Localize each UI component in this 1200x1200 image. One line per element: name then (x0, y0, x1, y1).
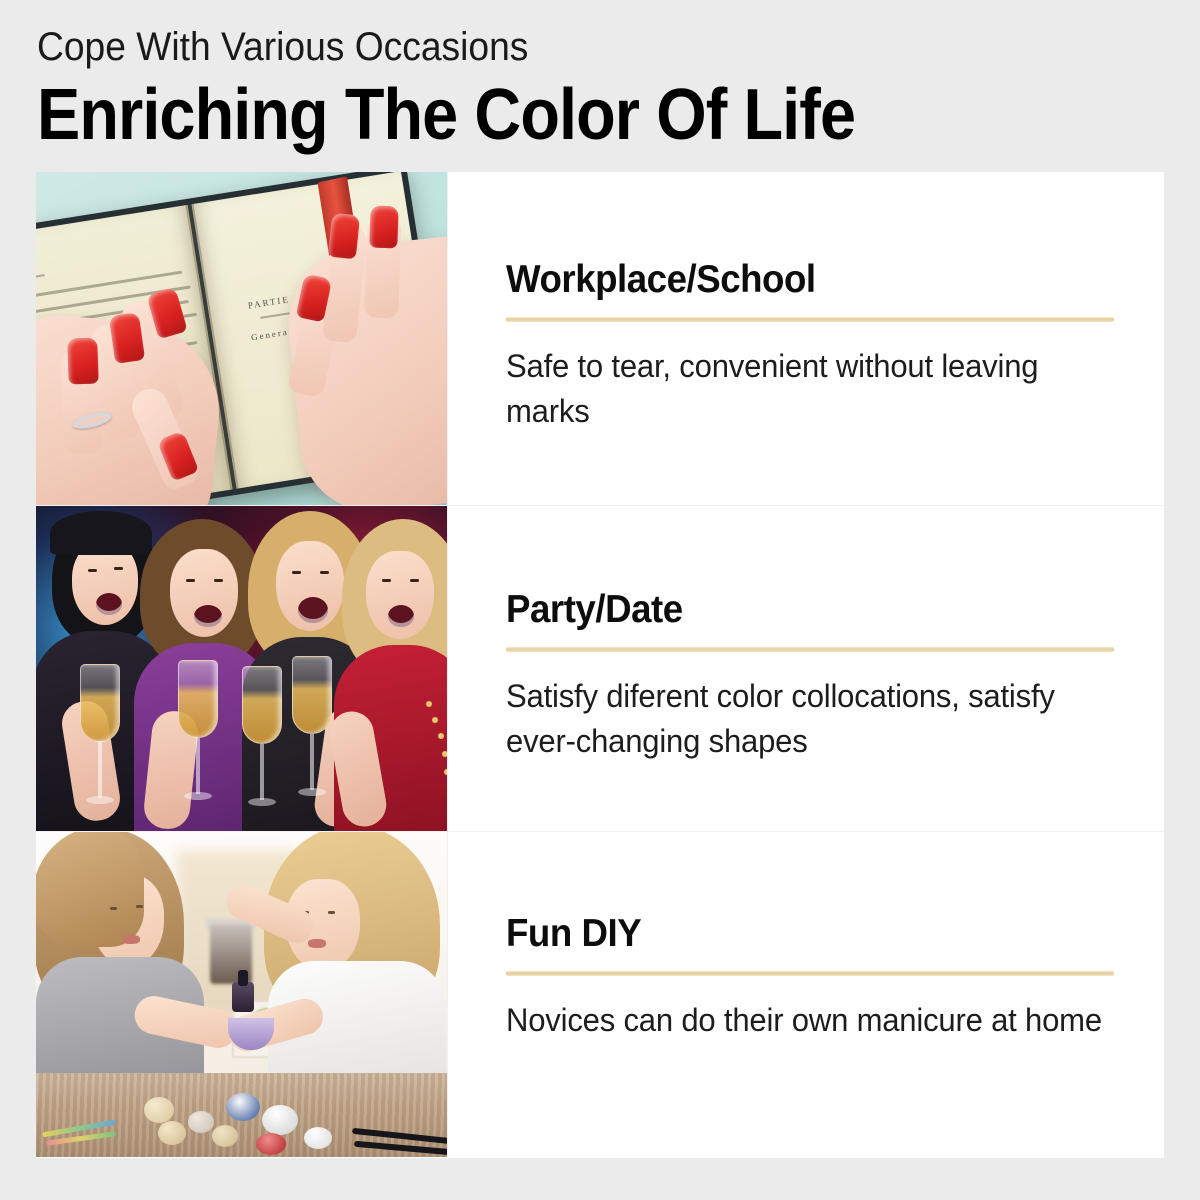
polish-jar (304, 1127, 332, 1149)
feature-row-fun-diy: Fun DIY Novices can do their own manicur… (36, 831, 1164, 1157)
bead-cluster (158, 1121, 186, 1145)
section-body-fun-diy: Novices can do their own manicure at hom… (506, 998, 1117, 1043)
polish-jar (256, 1133, 286, 1155)
bead-cluster (188, 1111, 214, 1133)
person-right (258, 832, 448, 1073)
section-title-workplace-school: Workplace/School (506, 258, 1098, 302)
feature-row-workplace-school: PARTIE II Generalites (36, 172, 1164, 505)
photo-party-toast (36, 506, 448, 831)
pane-fun-diy: Fun DIY Novices can do their own manicur… (448, 832, 1164, 1157)
polish-jar (226, 1093, 260, 1121)
polish-jar (262, 1105, 298, 1135)
person-left (36, 832, 220, 1073)
feature-card: PARTIE II Generalites (36, 172, 1164, 1158)
section-title-party-date: Party/Date (506, 588, 1098, 632)
bead-cluster (144, 1097, 174, 1123)
photo-diy-manicure (36, 832, 448, 1157)
bead-cluster (212, 1125, 238, 1147)
nail-red (328, 213, 360, 260)
feature-row-party-date: Party/Date Satisfy diferent color colloc… (36, 505, 1164, 831)
gold-rule (506, 317, 1114, 322)
section-body-workplace-school: Safe to tear, convenient without leaving… (506, 344, 1117, 434)
nail-red (67, 337, 99, 384)
gold-rule (506, 971, 1114, 976)
page-title: Enriching The Color Of Life (37, 76, 1045, 154)
photo-hands-on-book: PARTIE II Generalites (36, 172, 448, 505)
pane-workplace-school: Workplace/School Safe to tear, convenien… (448, 172, 1164, 505)
nail-polish-bottle (232, 982, 254, 1012)
header-subtitle: Cope With Various Occasions (37, 24, 1079, 70)
section-title-fun-diy: Fun DIY (506, 912, 1098, 956)
section-body-party-date: Satisfy diferent color collocations, sat… (506, 674, 1117, 764)
pane-party-date: Party/Date Satisfy diferent color colloc… (448, 506, 1164, 831)
nail-red (369, 206, 398, 249)
gold-rule (506, 647, 1114, 652)
header: Cope With Various Occasions Enriching Th… (37, 24, 1157, 154)
promo-page: Cope With Various Occasions Enriching Th… (0, 0, 1200, 1200)
